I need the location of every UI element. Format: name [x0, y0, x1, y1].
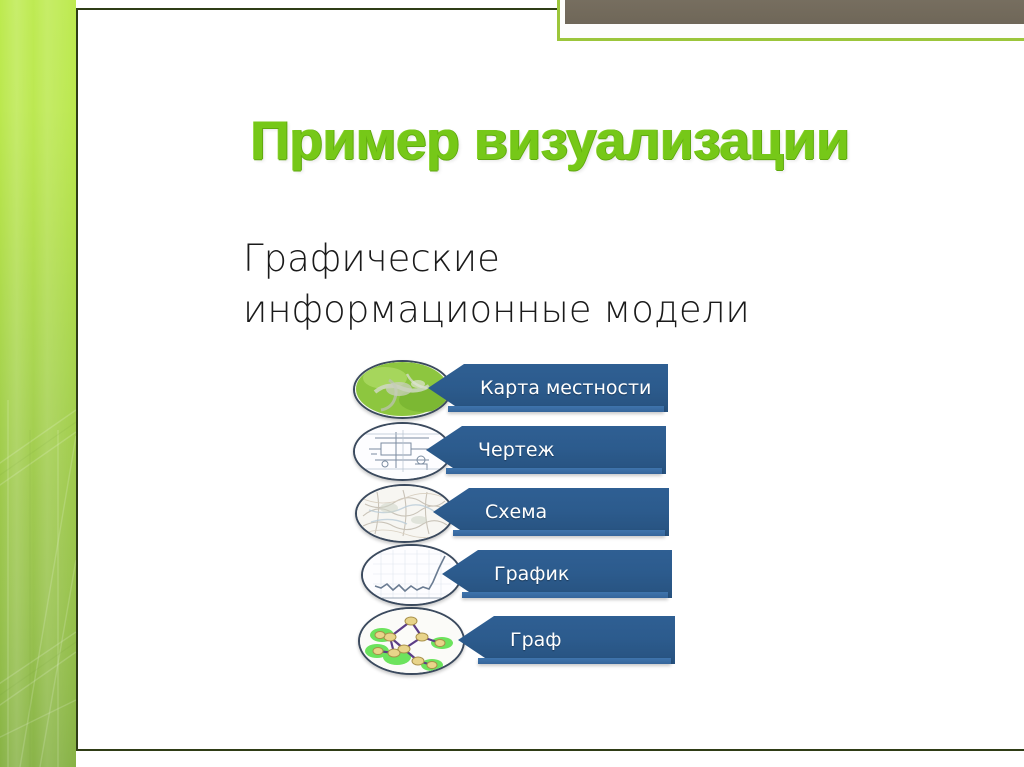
banner-shape[interactable]: Чертеж: [426, 426, 666, 474]
banner-label: Чертеж: [478, 439, 555, 461]
banner-shape[interactable]: Схема: [433, 488, 669, 536]
banner-accent-strip: [453, 530, 665, 536]
banner-label: Карта местности: [480, 377, 651, 399]
graphic-models-diagram: Карта местности: [243, 352, 803, 702]
header-plate-fill: [565, 0, 1024, 24]
banner-shape[interactable]: Карта местности: [428, 364, 668, 412]
banner-accent-strip: [462, 592, 668, 598]
banner-shape[interactable]: Граф: [458, 616, 675, 664]
banner-label: Граф: [510, 629, 562, 651]
slide-subtitle: Графические информационные модели: [243, 233, 883, 335]
slide-title: Пример визуализации: [100, 108, 1000, 172]
graph-network-icon: [358, 607, 465, 675]
banner-accent-strip: [478, 658, 671, 664]
frame-bottom-border: [76, 749, 1024, 751]
left-accent-band: [0, 0, 76, 767]
header-plate: [565, 0, 1024, 24]
banner-label: Схема: [485, 501, 547, 523]
subtitle-line-1: Графические: [243, 233, 883, 284]
band-line-pattern: [0, 0, 76, 767]
banner-label: График: [494, 563, 569, 585]
banner-accent-strip: [446, 468, 662, 474]
banner-shape[interactable]: График: [442, 550, 672, 598]
subtitle-line-2: информационные модели: [243, 284, 883, 335]
banner-accent-strip: [448, 406, 664, 412]
slide-canvas: Пример визуализации Графические информац…: [0, 0, 1024, 767]
frame-left-border: [76, 8, 78, 751]
